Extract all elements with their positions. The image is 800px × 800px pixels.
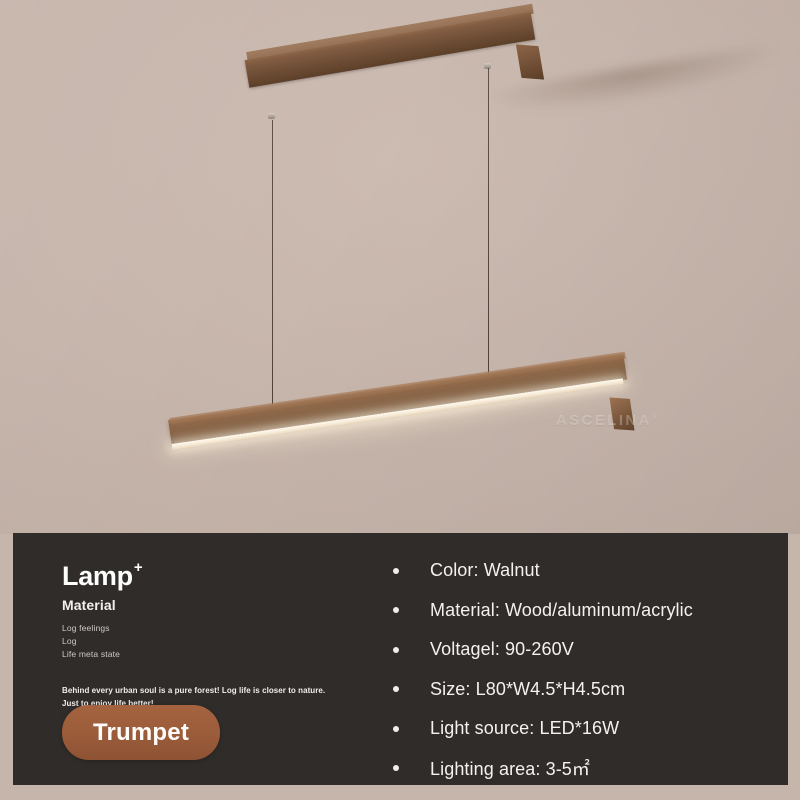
- bullet-icon: [393, 765, 399, 771]
- brand-title-text: Lamp: [62, 561, 133, 591]
- bullet-icon: [393, 607, 399, 613]
- bullet-icon: [393, 568, 399, 574]
- cable-anchor-left-icon: [268, 113, 275, 119]
- ceiling-mount-bar: [247, 38, 537, 130]
- brand-watermark: ASCELINA®: [556, 412, 658, 429]
- spec-text: Material: Wood/aluminum/acrylic: [430, 600, 693, 621]
- spec-text: Light source: LED*16W: [430, 718, 619, 739]
- brand-subtitle: Material: [62, 597, 368, 613]
- spec-list: Color: Walnut Material: Wood/aluminum/ac…: [368, 551, 788, 788]
- brand-title: Lamp+: [62, 563, 141, 590]
- product-photo: ASCELINA®: [0, 0, 800, 534]
- brand-keyword: Log: [62, 635, 368, 648]
- brand-tagline-line: Behind every urban soul is a pure forest…: [62, 684, 368, 697]
- brand-keyword: Life meta state: [62, 648, 368, 661]
- bullet-icon: [393, 647, 399, 653]
- brand-block: Lamp+ Material Log feelings Log Life met…: [13, 533, 368, 785]
- ceiling-mount-end-cap: [516, 44, 544, 79]
- list-item: Voltagel: 90-260V: [368, 630, 788, 670]
- list-item: Color: Walnut: [368, 551, 788, 591]
- brand-keyword-list: Log feelings Log Life meta state: [62, 622, 368, 662]
- watermark-text: ASCELINA: [556, 412, 652, 429]
- brand-plus-icon: +: [134, 559, 142, 576]
- spec-text: Color: Walnut: [430, 560, 540, 581]
- pendant-lamp-body: [170, 358, 640, 458]
- spec-list-block: Color: Walnut Material: Wood/aluminum/ac…: [368, 533, 788, 785]
- suspension-cable-right: [488, 68, 489, 386]
- trumpet-button[interactable]: Trumpet: [62, 705, 220, 760]
- list-item: Material: Wood/aluminum/acrylic: [368, 591, 788, 631]
- list-item: Light source: LED*16W: [368, 709, 788, 749]
- watermark-registered-icon: ®: [652, 412, 658, 421]
- list-item: Size: L80*W4.5*H4.5cm: [368, 670, 788, 710]
- list-item: Lighting area: 3-5㎡: [368, 749, 788, 789]
- spec-text: Size: L80*W4.5*H4.5cm: [430, 679, 625, 700]
- brand-keyword: Log feelings: [62, 622, 368, 635]
- spec-text: Lighting area: 3-5㎡: [430, 755, 590, 781]
- bullet-icon: [393, 726, 399, 732]
- spec-text: Voltagel: 90-260V: [430, 639, 574, 660]
- bullet-icon: [393, 686, 399, 692]
- spec-panel: Lamp+ Material Log feelings Log Life met…: [13, 533, 788, 785]
